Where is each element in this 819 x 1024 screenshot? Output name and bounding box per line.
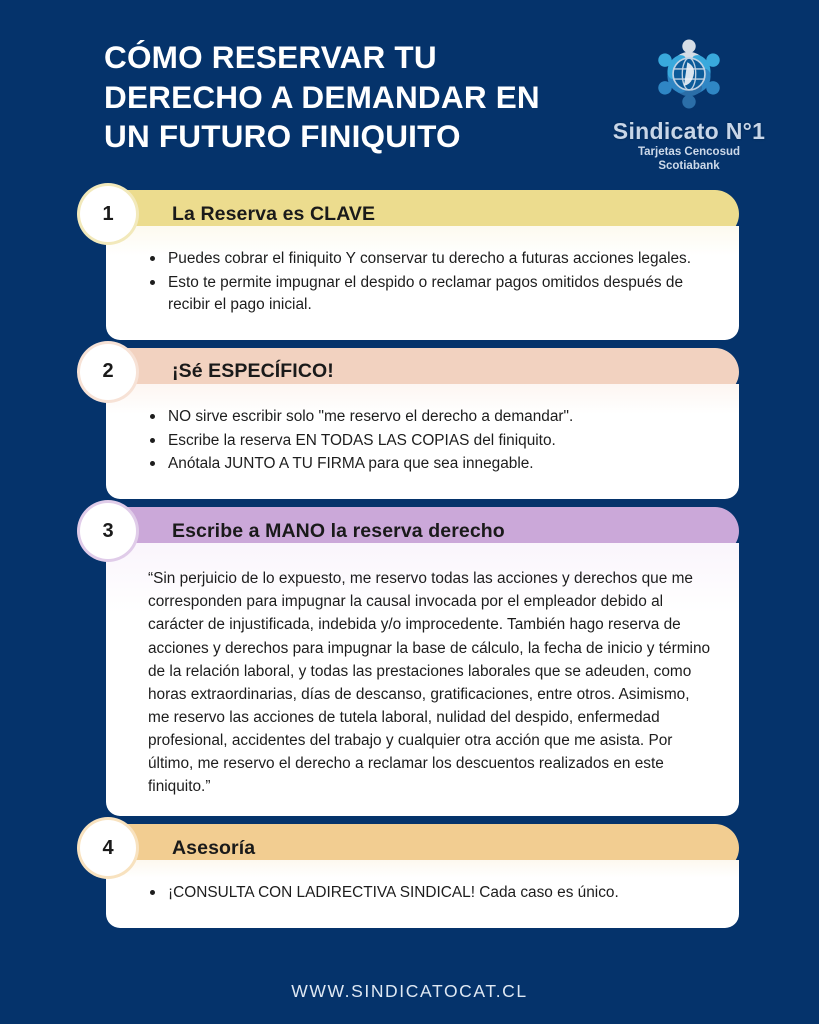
union-people-globe-icon (646, 32, 732, 116)
sections-list: 1 La Reserva es CLAVE Puedes cobrar el f… (0, 190, 819, 928)
logo-subtitle-line-1: Tarjetas Cencosud (638, 146, 740, 158)
section-1-bullet-list: Puedes cobrar el finiquito Y conservar t… (148, 248, 715, 316)
organization-logo: Sindicato N°1 Tarjetas Cencosud Scotiaba… (589, 28, 789, 173)
section-1-title: La Reserva es CLAVE (172, 203, 375, 226)
section-3: 3 Escribe a MANO la reserva derecho “Sin… (80, 507, 739, 816)
section-4-number-badge: 4 (80, 820, 136, 876)
section-1-body: Puedes cobrar el finiquito Y conservar t… (106, 226, 739, 340)
list-item: ¡CONSULTA CON LADIRECTIVA SINDICAL! Cada… (148, 882, 715, 904)
list-item: NO sirve escribir solo "me reservo el de… (148, 406, 715, 428)
logo-subtitle-line-2: Scotiabank (658, 160, 719, 172)
title-line-2: DERECHO A DEMANDAR EN (104, 78, 589, 118)
section-3-number-badge: 3 (80, 503, 136, 559)
section-1: 1 La Reserva es CLAVE Puedes cobrar el f… (80, 190, 739, 340)
list-item: Escribe la reserva EN TODAS LAS COPIAS d… (148, 430, 715, 452)
list-item: Esto te permite impugnar el despido o re… (148, 272, 715, 316)
section-1-number-badge: 1 (80, 186, 136, 242)
logo-subtitle: Tarjetas Cencosud Scotiabank (638, 146, 740, 173)
infographic-poster: CÓMO RESERVAR TU DERECHO A DEMANDAR EN U… (0, 0, 819, 1024)
section-4-title: Asesoría (172, 837, 255, 860)
section-4: 4 Asesoría ¡CONSULTA CON LADIRECTIVA SIN… (80, 824, 739, 928)
title-line-1: CÓMO RESERVAR TU (104, 38, 589, 78)
list-item: Puedes cobrar el finiquito Y conservar t… (148, 248, 715, 270)
reservation-quote-text: “Sin perjuicio de lo expuesto, me reserv… (148, 567, 715, 798)
page-title: CÓMO RESERVAR TU DERECHO A DEMANDAR EN U… (30, 28, 589, 157)
list-item: Anótala JUNTO A TU FIRMA para que sea in… (148, 453, 715, 475)
poster-header: CÓMO RESERVAR TU DERECHO A DEMANDAR EN U… (0, 0, 819, 190)
section-2-title: ¡Sé ESPECÍFICO! (172, 360, 334, 383)
section-4-bullet-list: ¡CONSULTA CON LADIRECTIVA SINDICAL! Cada… (148, 882, 715, 904)
footer-website[interactable]: WWW.SINDICATOCAT.CL (0, 981, 819, 1002)
title-line-3: UN FUTURO FINIQUITO (104, 117, 589, 157)
section-2-number-badge: 2 (80, 344, 136, 400)
logo-name: Sindicato N°1 (613, 118, 765, 145)
section-2-bullet-list: NO sirve escribir solo "me reservo el de… (148, 406, 715, 476)
section-3-body: “Sin perjuicio de lo expuesto, me reserv… (106, 543, 739, 816)
section-2-body: NO sirve escribir solo "me reservo el de… (106, 384, 739, 500)
section-3-title: Escribe a MANO la reserva derecho (172, 520, 505, 543)
section-2: 2 ¡Sé ESPECÍFICO! NO sirve escribir solo… (80, 348, 739, 500)
section-4-body: ¡CONSULTA CON LADIRECTIVA SINDICAL! Cada… (106, 860, 739, 928)
